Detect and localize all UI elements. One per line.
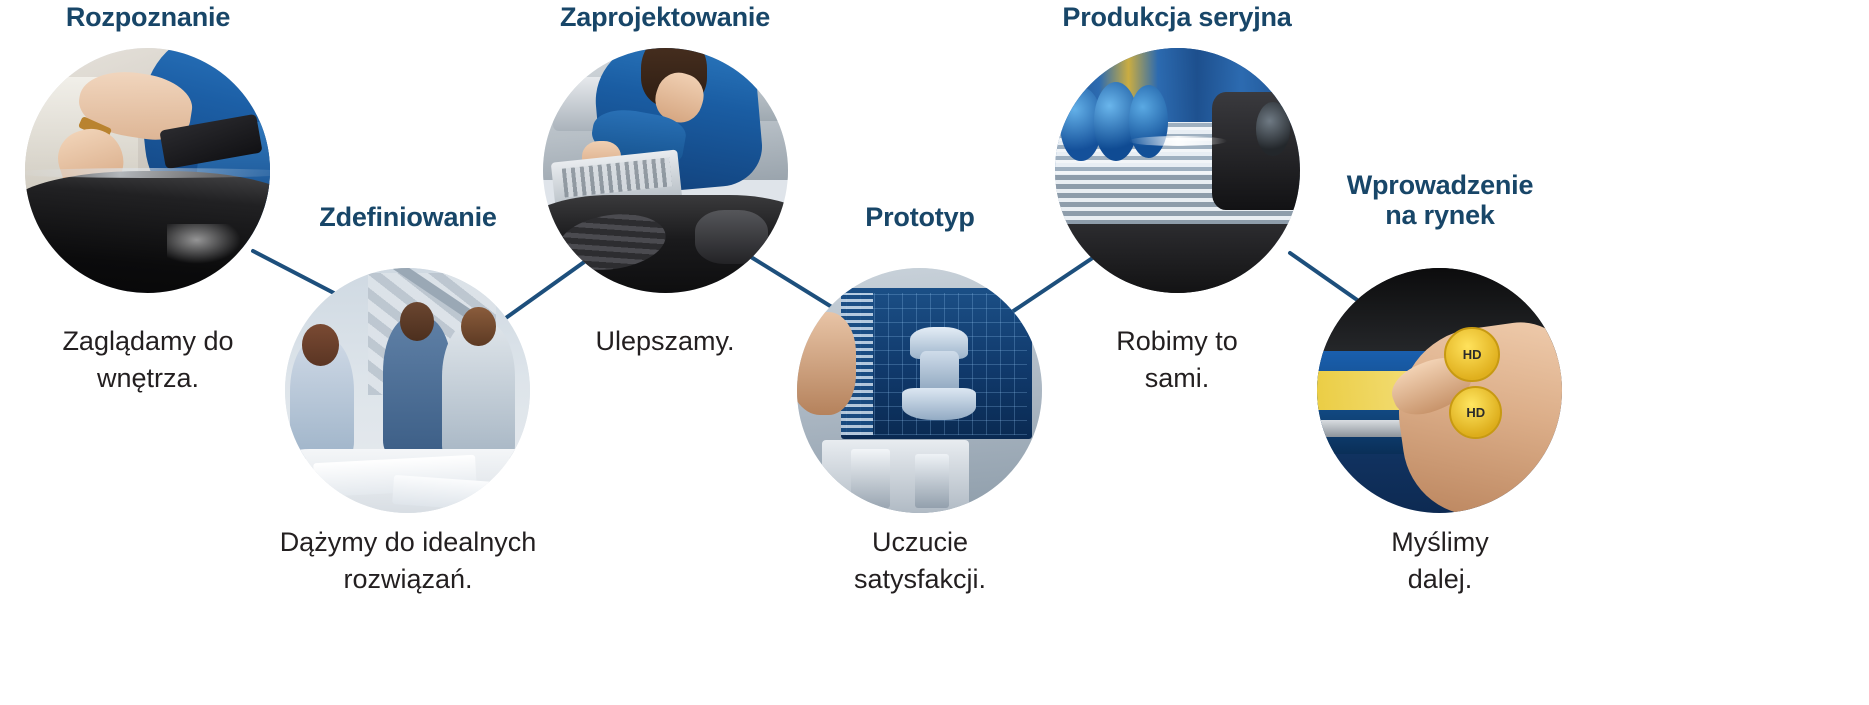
step-image-zdefiniowanie [285,268,530,513]
step-title-zdefiniowanie: Zdefiniowanie [283,202,533,232]
step-caption-zaprojektowanie: Ulepszamy. [540,323,790,360]
step-image-prototyp [797,268,1042,513]
step-image-rozpoznanie [25,48,270,293]
step-title-produkcja-seryjna: Produkcja seryjna [1032,2,1322,32]
hd-badge-label-lower: HD [1451,388,1500,437]
step-image-produkcja-seryjna [1055,48,1300,293]
illustration-mechanic-inspecting-car-hood [25,48,270,293]
hd-badge-upper: HD [1444,327,1499,382]
illustration-engineer-with-laptop-at-engine [543,48,788,293]
step-title-wprowadzenie-na-rynek: Wprowadzenie na rynek [1315,170,1565,230]
step-caption-rozpoznanie: Zaglądamy do wnętrza. [23,323,273,396]
step-caption-produkcja-seryjna: Robimy to sami. [1052,323,1302,396]
illustration-cad-model-on-monitor [797,268,1042,513]
step-title-prototyp: Prototyp [795,202,1045,232]
step-caption-prototyp: Uczucie satysfakcji. [795,524,1045,597]
step-caption-zdefiniowanie: Dążymy do idealnych rozwiązań. [253,524,563,597]
process-diagram: Rozpoznanie Zaglądamy do wnętrza. Zdefin… [0,0,1869,705]
step-image-zaprojektowanie [543,48,788,293]
illustration-hand-applying-hd-sticker: HD HD [1317,268,1562,513]
hd-badge-label-upper: HD [1446,329,1497,380]
hd-badge-lower: HD [1449,386,1502,439]
illustration-row-of-blue-shock-absorbers [1055,48,1300,293]
step-image-wprowadzenie-na-rynek: HD HD [1317,268,1562,513]
illustration-team-discussing-blueprints [285,268,530,513]
step-title-rozpoznanie: Rozpoznanie [23,2,273,32]
step-caption-wprowadzenie-na-rynek: Myślimy dalej. [1315,524,1565,597]
step-title-zaprojektowanie: Zaprojektowanie [520,2,810,32]
